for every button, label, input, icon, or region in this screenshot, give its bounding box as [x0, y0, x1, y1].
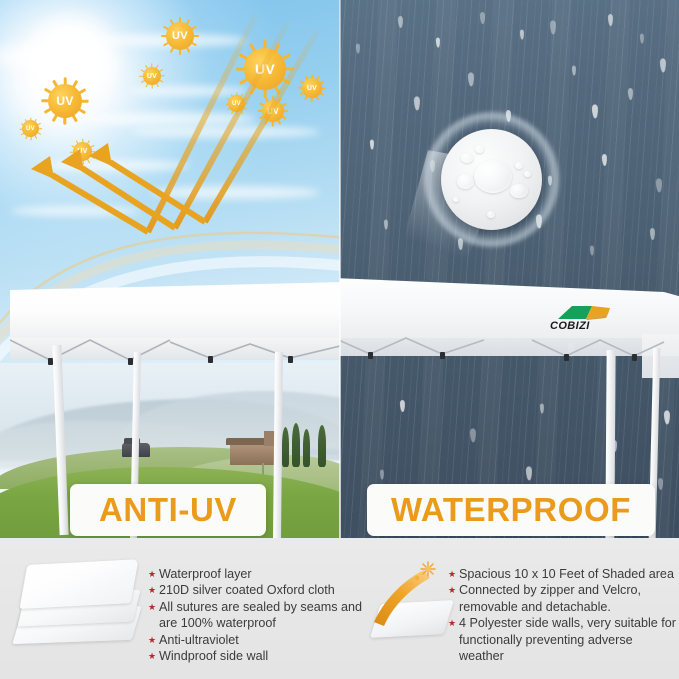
- feature-item-text: Spacious 10 x 10 Feet of Shaded area: [459, 566, 676, 582]
- water-droplet-icon: [524, 171, 531, 177]
- feature-item: ★Connected by zipper and Velcro, removab…: [448, 582, 676, 615]
- fabric-fold: [19, 559, 138, 609]
- star-bullet-icon: ★: [448, 583, 456, 598]
- water-droplet-icon: [457, 174, 474, 189]
- canopy-right: [340, 276, 679, 356]
- feature-item-text: Connected by zipper and Velcro, removabl…: [459, 582, 676, 615]
- star-bullet-icon: ★: [148, 649, 156, 664]
- hero-section: UVUVUVUVUVUVUVUVUV: [0, 0, 679, 538]
- feature-item: ★4 Polyester side walls, very suitable f…: [448, 615, 676, 664]
- feature-item-text: 4 Polyester side walls, very suitable fo…: [459, 615, 676, 664]
- feature-item: ★Anti-ultraviolet: [148, 632, 363, 648]
- right-feature-list: ★Spacious 10 x 10 Feet of Shaded area★Co…: [448, 566, 676, 664]
- feature-item: ★All sutures are sealed by seams and are…: [148, 599, 363, 632]
- waterproof-label-text: WATERPROOF: [391, 491, 631, 529]
- water-droplet-icon: [515, 162, 523, 169]
- water-droplet-icon: [510, 184, 528, 198]
- water-repellent-swoosh-icon: [372, 556, 452, 642]
- swoosh-arc: [372, 556, 452, 642]
- water-droplet-icon: [487, 211, 495, 218]
- left-feature-list: ★Waterproof layer★210D silver coated Oxf…: [148, 566, 363, 664]
- feature-item: ★Windproof side wall: [148, 648, 363, 664]
- product-feature-image: UVUVUVUVUVUVUVUVUV: [0, 0, 679, 679]
- water-droplet-icon: [453, 197, 459, 202]
- cypress-tree: [303, 429, 310, 467]
- cypress-tree: [318, 425, 326, 467]
- feature-item-text: Anti-ultraviolet: [159, 632, 363, 648]
- waterproof-panel: WATERPROOF: [340, 0, 679, 538]
- water-droplet-icon: [475, 145, 484, 153]
- anti-uv-label-text: ANTI-UV: [99, 491, 237, 529]
- canopy-roof: [0, 282, 340, 338]
- villa-building: [230, 443, 278, 465]
- canopy-left: [0, 282, 340, 360]
- anti-uv-panel: UVUVUVUVUVUVUVUVUV: [0, 0, 340, 538]
- rain-bands: [340, 0, 679, 538]
- canopy-truss-frame: [340, 334, 679, 376]
- cypress-tree: [292, 423, 300, 467]
- anti-uv-label: ANTI-UV: [70, 484, 266, 536]
- star-bullet-icon: ★: [148, 583, 156, 598]
- magnifier-lens: [441, 129, 542, 230]
- star-bullet-icon: ★: [148, 633, 156, 648]
- feature-item-text: 210D silver coated Oxford cloth: [159, 582, 363, 598]
- fabric-swatch-image: [14, 552, 140, 650]
- feature-item-text: Windproof side wall: [159, 648, 363, 664]
- feature-item: ★Waterproof layer: [148, 566, 363, 582]
- star-bullet-icon: ★: [448, 567, 456, 582]
- water-droplet-icon: [461, 153, 473, 163]
- waterproof-label: WATERPROOF: [367, 484, 655, 536]
- star-bullet-icon: ★: [148, 567, 156, 582]
- star-bullet-icon: ★: [448, 616, 456, 631]
- cypress-tree: [282, 427, 289, 467]
- water-droplet-magnifier: [424, 112, 559, 247]
- star-bullet-icon: ★: [148, 600, 156, 615]
- canopy-roof: [340, 276, 679, 338]
- feature-item-text: All sutures are sealed by seams and are …: [159, 599, 363, 632]
- feature-item: ★210D silver coated Oxford cloth: [148, 582, 363, 598]
- feature-item: ★Spacious 10 x 10 Feet of Shaded area: [448, 566, 676, 582]
- cobizi-logo: COBIZI: [546, 305, 616, 337]
- panel-divider: [339, 0, 341, 538]
- water-droplet-icon: [474, 160, 512, 193]
- cobizi-logo-text: COBIZI: [550, 320, 590, 332]
- feature-item-text: Waterproof layer: [159, 566, 363, 582]
